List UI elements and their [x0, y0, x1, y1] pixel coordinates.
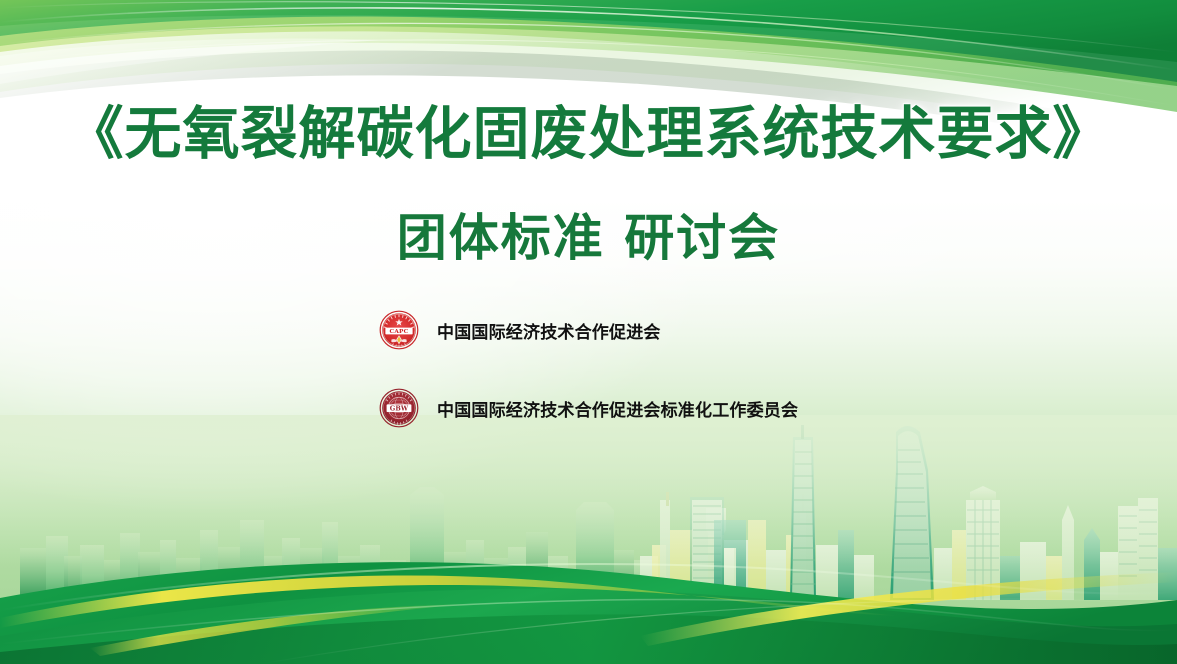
organization-name-capc: 中国国际经济技术合作促进会 — [437, 318, 661, 343]
gbw-seal-icon: GBW — [379, 388, 419, 428]
page-subtitle: 团体标准 研讨会 — [0, 198, 1177, 270]
presentation-slide: 《无氧裂解碳化固废处理系统技术要求》 团体标准 研讨会 — [0, 0, 1177, 664]
svg-text:CAPC: CAPC — [390, 329, 409, 335]
page-title: 《无氧裂解碳化固废处理系统技术要求》 — [0, 100, 1177, 170]
organization-row-capc: CAPC 中国国际经济技术合作促进会 — [379, 310, 798, 350]
organization-row-gbw: GBW — [379, 388, 798, 428]
capc-seal-icon: CAPC — [379, 310, 419, 350]
svg-text:GBW: GBW — [390, 404, 409, 412]
title-block: 《无氧裂解碳化固废处理系统技术要求》 团体标准 研讨会 — [0, 100, 1177, 270]
organization-list: CAPC 中国国际经济技术合作促进会 — [379, 310, 798, 428]
organization-name-gbw: 中国国际经济技术合作促进会标准化工作委员会 — [437, 396, 798, 421]
